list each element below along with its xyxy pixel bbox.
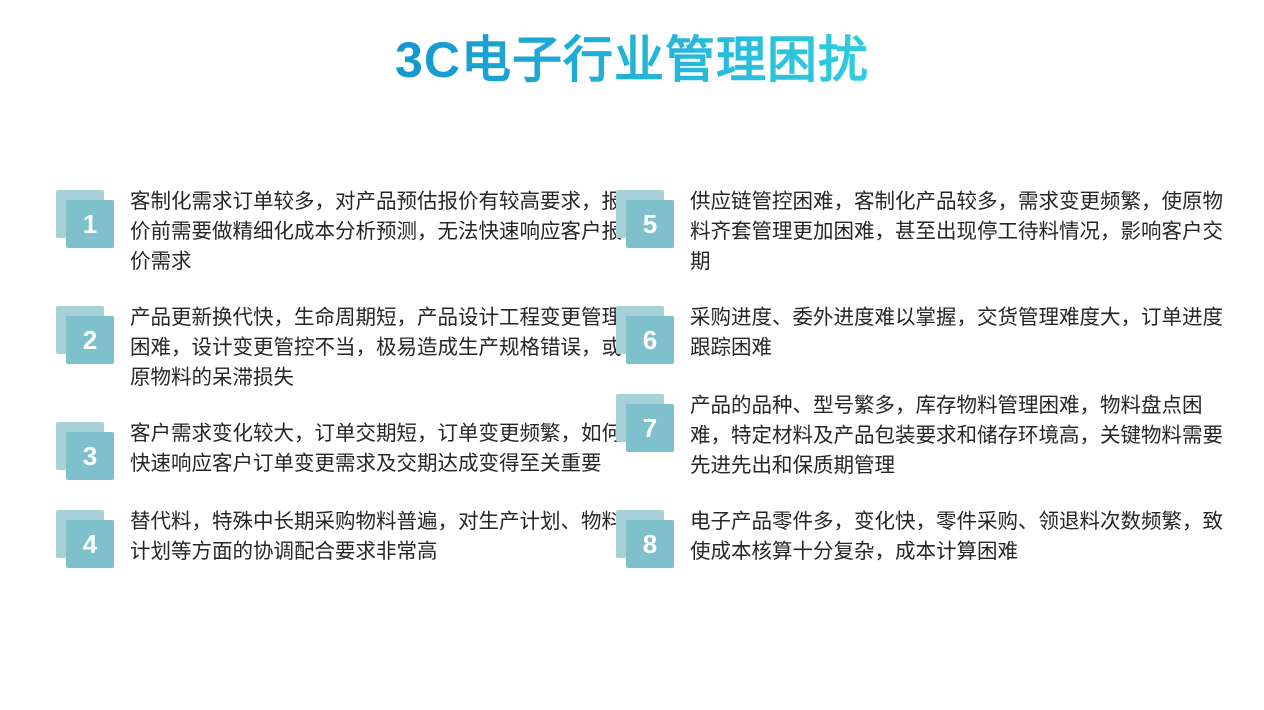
number-badge-6: 6: [622, 312, 674, 364]
title-container: 3C电子行业管理困扰: [0, 32, 1264, 88]
content-columns: 1 客制化需求订单较多，对产品预估报价有较高要求，报价前需要做精细化成本分析预测…: [0, 186, 1264, 594]
list-item-text: 产品更新换代快，生命周期短，产品设计工程变更管理困难，设计变更管控不当，极易造成…: [130, 302, 622, 392]
badge-main-square: 8: [626, 520, 674, 568]
badge-main-square: 4: [66, 520, 114, 568]
badge-number: 1: [83, 211, 97, 237]
badge-main-square: 5: [626, 200, 674, 248]
badge-main-square: 2: [66, 316, 114, 364]
number-badge-5: 5: [622, 196, 674, 248]
badge-main-square: 6: [626, 316, 674, 364]
badge-number: 4: [83, 531, 97, 557]
badge-main-square: 1: [66, 200, 114, 248]
number-badge-8: 8: [622, 516, 674, 568]
badge-number: 5: [643, 211, 657, 237]
badge-number: 2: [83, 327, 97, 353]
badge-number: 7: [643, 415, 657, 441]
list-item-text: 电子产品零件多，变化快，零件采购、领退料次数频繁，致使成本核算十分复杂，成本计算…: [690, 506, 1234, 566]
list-item: 5 供应链管控困难，客制化产品较多，需求变更频繁，使原物料齐套管理更加困难，甚至…: [622, 186, 1234, 276]
badge-main-square: 7: [626, 404, 674, 452]
list-item-text: 采购进度、委外进度难以掌握，交货管理难度大，订单进度跟踪困难: [690, 302, 1234, 362]
list-item: 6 采购进度、委外进度难以掌握，交货管理难度大，订单进度跟踪困难: [622, 302, 1234, 364]
list-item: 3 客户需求变化较大，订单交期短，订单变更频繁，如何快速响应客户订单变更需求及交…: [62, 418, 622, 480]
list-item-text: 替代料，特殊中长期采购物料普遍，对生产计划、物料计划等方面的协调配合要求非常高: [130, 506, 622, 566]
badge-number: 8: [643, 531, 657, 557]
list-item: 8 电子产品零件多，变化快，零件采购、领退料次数频繁，致使成本核算十分复杂，成本…: [622, 506, 1234, 568]
list-item: 4 替代料，特殊中长期采购物料普遍，对生产计划、物料计划等方面的协调配合要求非常…: [62, 506, 622, 568]
left-column: 1 客制化需求订单较多，对产品预估报价有较高要求，报价前需要做精细化成本分析预测…: [0, 186, 632, 594]
number-badge-3: 3: [62, 428, 114, 480]
list-item-text: 产品的品种、型号繁多，库存物料管理困难，物料盘点困难，特定材料及产品包装要求和储…: [690, 390, 1234, 480]
list-item: 1 客制化需求订单较多，对产品预估报价有较高要求，报价前需要做精细化成本分析预测…: [62, 186, 622, 276]
number-badge-1: 1: [62, 196, 114, 248]
number-badge-7: 7: [622, 400, 674, 452]
number-badge-2: 2: [62, 312, 114, 364]
right-column: 5 供应链管控困难，客制化产品较多，需求变更频繁，使原物料齐套管理更加困难，甚至…: [622, 186, 1254, 594]
list-item-text: 供应链管控困难，客制化产品较多，需求变更频繁，使原物料齐套管理更加困难，甚至出现…: [690, 186, 1234, 276]
number-badge-4: 4: [62, 516, 114, 568]
list-item-text: 客制化需求订单较多，对产品预估报价有较高要求，报价前需要做精细化成本分析预测，无…: [130, 186, 622, 276]
badge-main-square: 3: [66, 432, 114, 480]
list-item-text: 客户需求变化较大，订单交期短，订单变更频繁，如何快速响应客户订单变更需求及交期达…: [130, 418, 622, 478]
list-item: 2 产品更新换代快，生命周期短，产品设计工程变更管理困难，设计变更管控不当，极易…: [62, 302, 622, 392]
badge-number: 3: [83, 443, 97, 469]
page-title: 3C电子行业管理困扰: [395, 32, 869, 88]
list-item: 7 产品的品种、型号繁多，库存物料管理困难，物料盘点困难，特定材料及产品包装要求…: [622, 390, 1234, 480]
slide-canvas: 3C电子行业管理困扰 1 客制化需求订单较多，对产品预估报价有较高要求，报价前需…: [0, 0, 1264, 710]
badge-number: 6: [643, 327, 657, 353]
